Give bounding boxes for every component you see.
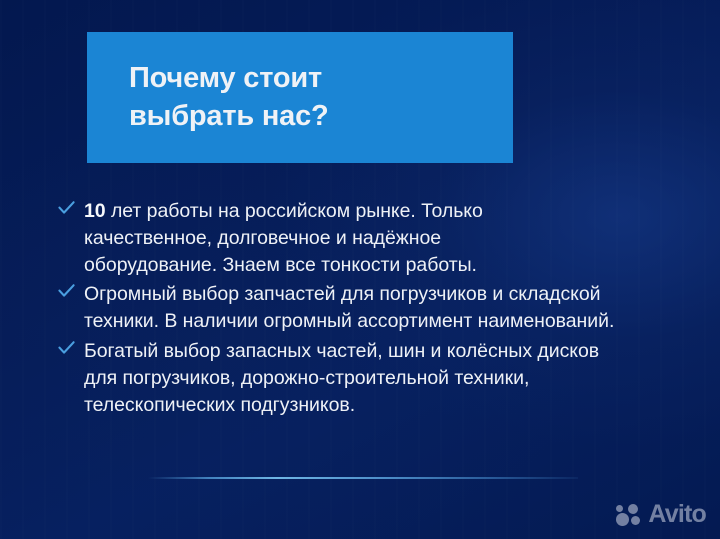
list-item-text: Богатый выбор запасных частей, шин и кол…: [84, 338, 604, 418]
title-banner: Почему стоит выбрать нас?: [87, 32, 513, 163]
avito-logo-dots-icon: [616, 504, 641, 526]
check-icon: [58, 198, 84, 215]
list-item-body: Огромный выбор запчастей для погрузчиков…: [84, 283, 614, 332]
check-icon: [58, 281, 84, 298]
slide-canvas: Почему стоит выбрать нас? 10 лет работы …: [0, 0, 720, 539]
list-item-text: 10 лет работы на российском рынке. Тольк…: [84, 198, 558, 278]
benefits-list: 10 лет работы на российском рынке. Тольк…: [58, 198, 676, 422]
list-item: 10 лет работы на российском рынке. Тольк…: [58, 198, 676, 278]
list-item: Огромный выбор запчастей для погрузчиков…: [58, 281, 676, 335]
list-item: Богатый выбор запасных частей, шин и кол…: [58, 338, 676, 418]
avito-watermark: Avito: [616, 502, 706, 527]
divider: [148, 477, 578, 479]
check-icon: [58, 338, 84, 355]
list-item-body: Богатый выбор запасных частей, шин и кол…: [84, 340, 599, 416]
list-item-lead: 10: [84, 200, 106, 222]
list-item-text: Огромный выбор запчастей для погрузчиков…: [84, 281, 668, 335]
list-item-body: лет работы на российском рынке. Только к…: [84, 200, 483, 276]
page-title: Почему стоит выбрать нас?: [129, 60, 499, 135]
avito-wordmark: Avito: [648, 502, 706, 527]
